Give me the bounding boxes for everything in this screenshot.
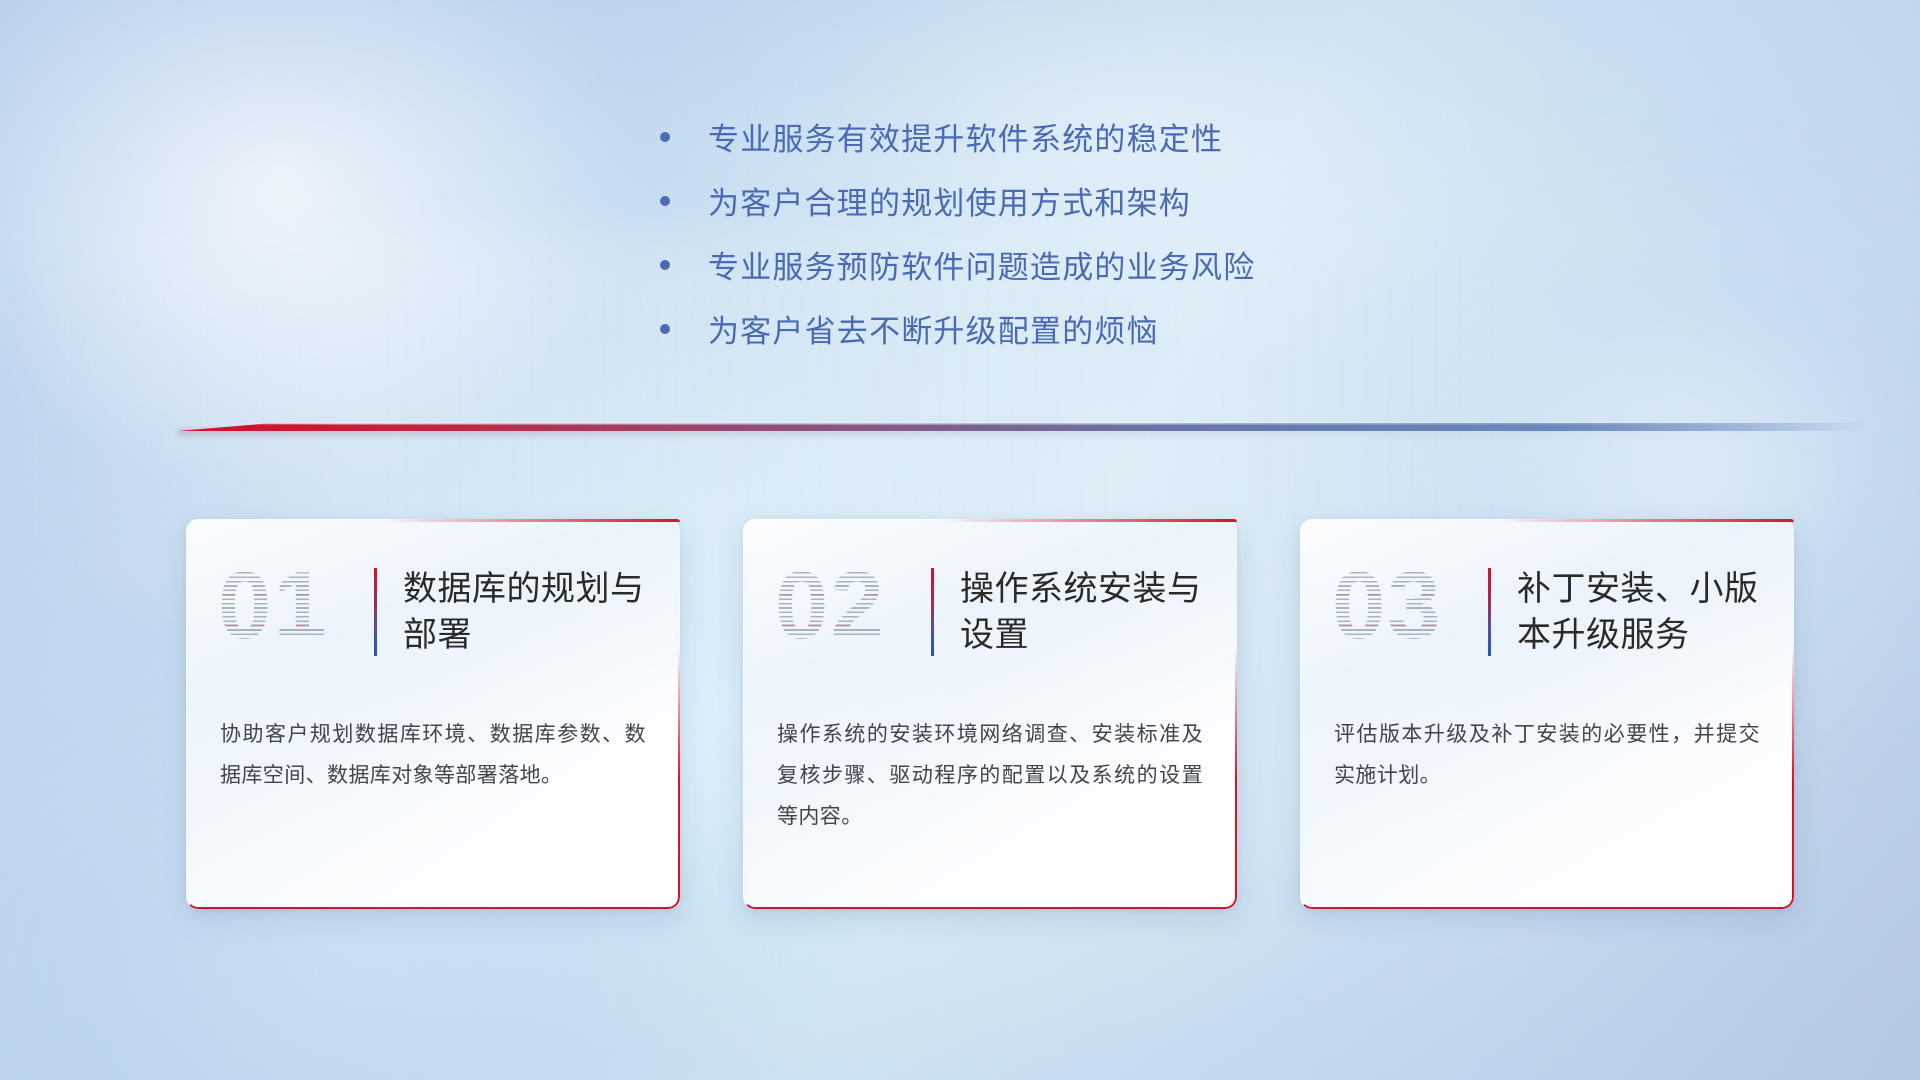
card-red-border-top: [384, 519, 680, 522]
card-accent-bar: [374, 568, 377, 656]
card-number-watermark: 02 02: [775, 556, 915, 668]
bullet-dot-icon: [660, 132, 670, 142]
card-number-text-tint: 01: [218, 550, 329, 662]
bullet-dot-icon: [660, 196, 670, 206]
bullet-text: 专业服务预防软件问题造成的业务风险: [708, 242, 1255, 287]
list-item: 为客户省去不断升级配置的烦恼: [660, 296, 1440, 360]
benefits-bullet-list: 专业服务有效提升软件系统的稳定性 为客户合理的规划使用方式和架构 专业服务预防软…: [660, 104, 1440, 360]
bullet-dot-icon: [660, 260, 670, 270]
service-card-02[interactable]: 02 02 操作系统安装与设置 操作系统的安装环境网络调查、安装标准及复核步骤、…: [743, 519, 1237, 909]
divider-highlight: [178, 422, 1868, 425]
card-title: 补丁安装、小版本升级服务: [1517, 566, 1767, 658]
card-accent-bar: [1488, 568, 1491, 656]
section-divider: [178, 418, 1868, 436]
card-header: 01 01 数据库的规划与部署: [186, 553, 680, 671]
card-number-text-tint: 02: [775, 550, 886, 662]
service-card-03[interactable]: 03 03 补丁安装、小版本升级服务 评估版本升级及补丁安装的必要性，并提交实施…: [1300, 519, 1794, 909]
card-title: 数据库的规划与部署: [403, 566, 653, 658]
service-card-group: 01 01 数据库的规划与部署 协助客户规划数据库环境、数据库参数、数据库空间、…: [186, 519, 1794, 909]
list-item: 为客户合理的规划使用方式和架构: [660, 168, 1440, 232]
card-body-text: 协助客户规划数据库环境、数据库参数、数据库空间、数据库对象等部署落地。: [220, 715, 646, 797]
card-accent-bar: [931, 568, 934, 656]
card-red-border-top: [941, 519, 1237, 522]
card-header: 02 02 操作系统安装与设置: [743, 553, 1237, 671]
list-item: 专业服务预防软件问题造成的业务风险: [660, 232, 1440, 296]
list-item: 专业服务有效提升软件系统的稳定性: [660, 104, 1440, 168]
card-header: 03 03 补丁安装、小版本升级服务: [1300, 553, 1794, 671]
card-number-watermark: 03 03: [1332, 556, 1472, 668]
card-body-text: 评估版本升级及补丁安装的必要性，并提交实施计划。: [1334, 715, 1760, 797]
card-number-text-tint: 03: [1332, 550, 1443, 662]
card-title: 操作系统安装与设置: [960, 566, 1210, 658]
service-card-01[interactable]: 01 01 数据库的规划与部署 协助客户规划数据库环境、数据库参数、数据库空间、…: [186, 519, 680, 909]
card-body-text: 操作系统的安装环境网络调查、安装标准及复核步骤、驱动程序的配置以及系统的设置等内…: [777, 715, 1203, 838]
card-red-border-top: [1498, 519, 1794, 522]
slide-root: 专业服务有效提升软件系统的稳定性 为客户合理的规划使用方式和架构 专业服务预防软…: [0, 0, 1920, 1080]
bullet-text: 为客户合理的规划使用方式和架构: [708, 178, 1191, 223]
bullet-dot-icon: [660, 324, 670, 334]
bullet-text: 为客户省去不断升级配置的烦恼: [708, 306, 1159, 351]
bullet-text: 专业服务有效提升软件系统的稳定性: [708, 114, 1223, 159]
card-number-watermark: 01 01: [218, 556, 358, 668]
